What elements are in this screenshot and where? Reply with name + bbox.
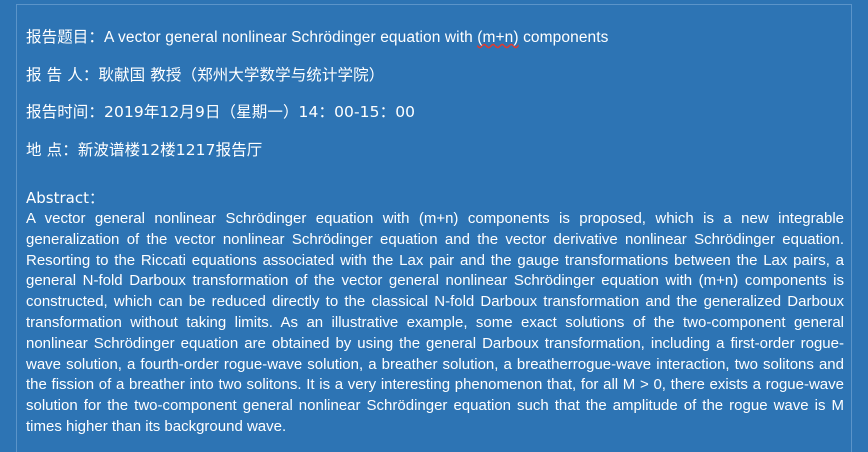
- seminar-title-spellcheck-word: (m+n): [477, 29, 518, 46]
- seminar-title-label: 报告题目：: [26, 28, 104, 46]
- seminar-title-value-part2: components: [519, 29, 609, 46]
- seminar-time-value: 2019年12月9日（星期一）14：00-15：00: [104, 103, 415, 121]
- seminar-title-value-part1: A vector general nonlinear Schrödinger e…: [104, 29, 477, 46]
- seminar-title-line: 报告题目：A vector general nonlinear Schrödin…: [26, 30, 844, 46]
- seminar-speaker-line: 报 告 人：耿献国 教授（郑州大学数学与统计学院）: [26, 68, 844, 84]
- seminar-place-line: 地 点：新波谱楼12楼1217报告厅: [26, 143, 844, 159]
- abstract-body: A vector general nonlinear Schrödinger e…: [26, 209, 844, 438]
- seminar-speaker-label: 报 告 人：: [26, 66, 98, 84]
- abstract-block: Abstract： A vector general nonlinear Sch…: [26, 188, 844, 438]
- seminar-place-value: 新波谱楼12楼1217报告厅: [78, 141, 263, 159]
- slide-content: 报告题目：A vector general nonlinear Schrödin…: [26, 4, 844, 438]
- seminar-time-label: 报告时间：: [26, 103, 104, 121]
- abstract-paragraph: A vector general nonlinear Schrödinger e…: [26, 209, 844, 438]
- abstract-label: Abstract：: [26, 188, 844, 208]
- seminar-time-line: 报告时间：2019年12月9日（星期一）14：00-15：00: [26, 105, 844, 121]
- seminar-place-label: 地 点：: [26, 141, 78, 159]
- seminar-speaker-value: 耿献国 教授（郑州大学数学与统计学院）: [98, 66, 384, 84]
